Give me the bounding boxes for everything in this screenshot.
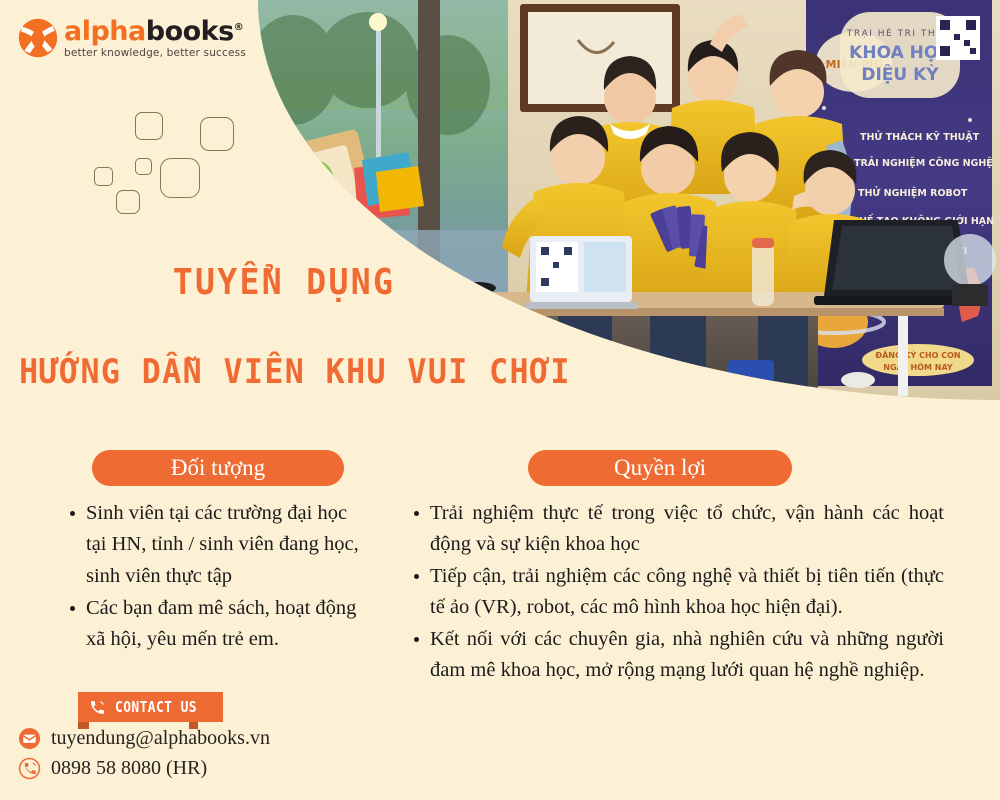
- decor-square-4: [135, 158, 152, 175]
- contact-us-label: CONTACT US: [115, 698, 197, 716]
- svg-text:NGAY HÔM NAY: NGAY HÔM NAY: [883, 361, 953, 372]
- phone-icon: [89, 699, 106, 716]
- section-pill-doi-tuong: Đối tượng: [92, 450, 344, 486]
- brand-wordmark: alphabooks®: [64, 18, 246, 45]
- brand-name-part1: alpha: [64, 16, 146, 47]
- list-quyen-loi: Trải nghiệm thực tế trong việc tổ chức, …: [404, 498, 944, 687]
- decorative-squares: [80, 100, 260, 225]
- list-item: Trải nghiệm thực tế trong việc tổ chức, …: [430, 498, 944, 560]
- event-photo: MIỄN PHÍ TRẠI HÈ TRI THỨC KHOA HỌC DIỆU …: [258, 0, 1000, 400]
- svg-text:KHOA HỌC: KHOA HỌC: [849, 43, 951, 63]
- contact-email[interactable]: tuyendung@alphabooks.vn: [18, 727, 270, 750]
- svg-text:DIỆU KỲ: DIỆU KỲ: [861, 63, 939, 85]
- phone-circle-icon: [18, 757, 41, 780]
- decor-square-2: [200, 117, 234, 151]
- svg-text:THỬ NGHIỆM ROBOT: THỬ NGHIỆM ROBOT: [858, 186, 968, 199]
- envelope-icon: [18, 727, 41, 750]
- brand-logo: alphabooks® better knowledge, better suc…: [18, 18, 246, 59]
- contact-phone[interactable]: 0898 58 8080 (HR): [18, 757, 207, 780]
- contact-us-badge[interactable]: CONTACT US: [78, 692, 223, 722]
- brand-tagline: better knowledge, better success: [64, 48, 246, 59]
- brand-name-part2: books: [146, 16, 234, 47]
- recruitment-poster: alphabooks® better knowledge, better suc…: [0, 0, 1000, 800]
- section-pill-quyen-loi: Quyền lợi: [528, 450, 792, 486]
- svg-text:THỬ THÁCH KỸ THUẬT: THỬ THÁCH KỸ THUẬT: [860, 130, 980, 143]
- contact-phone-text: 0898 58 8080 (HR): [51, 757, 207, 780]
- event-photo-illustration: MIỄN PHÍ TRẠI HÈ TRI THỨC KHOA HỌC DIỆU …: [258, 0, 1000, 400]
- decor-square-5: [160, 158, 200, 198]
- decor-square-3: [94, 167, 113, 186]
- list-item: Kết nối với các chuyên gia, nhà nghiên c…: [430, 624, 944, 686]
- svg-text:ĐĂNG KÝ CHO CON: ĐĂNG KÝ CHO CON: [875, 349, 960, 360]
- decor-square-1: [135, 112, 163, 140]
- list-doi-tuong: Sinh viên tại các trường đại học tại HN,…: [60, 498, 370, 657]
- list-item: Sinh viên tại các trường đại học tại HN,…: [86, 498, 370, 592]
- list-item: Các bạn đam mê sách, hoạt động xã hội, y…: [86, 593, 370, 656]
- contact-email-text: tuyendung@alphabooks.vn: [51, 727, 270, 750]
- svg-text:TRẢI NGHIỆM CÔNG NGHỆ: TRẢI NGHIỆM CÔNG NGHỆ: [854, 157, 993, 169]
- registered-mark: ®: [234, 22, 244, 33]
- page-title: HƯỚNG DẪN VIÊN KHU VUI CHƠI: [19, 352, 529, 392]
- list-item: Tiếp cận, trải nghiệm các công nghệ và t…: [430, 561, 944, 623]
- decor-square-6: [116, 190, 140, 214]
- alphabooks-swoosh-icon: [18, 18, 58, 58]
- eyebrow-heading: TUYỂN DỤNG: [23, 262, 546, 303]
